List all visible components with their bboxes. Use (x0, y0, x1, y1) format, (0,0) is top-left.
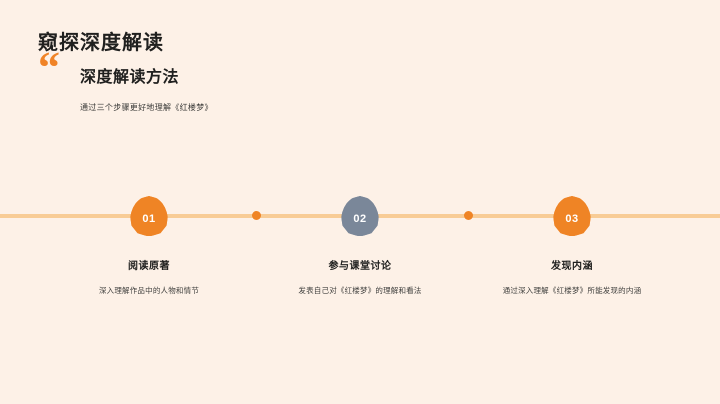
quote-marks-icon: “ (38, 62, 70, 88)
step-marker: 02 (341, 196, 379, 236)
step-description: 发表自己对《红楼梦》的理解和看法 (250, 285, 470, 297)
step-number: 02 (353, 207, 366, 225)
step-number: 03 (565, 207, 578, 225)
step-number: 01 (142, 207, 155, 225)
lead-text: 通过三个步骤更好地理解《红楼梦》 (80, 102, 213, 113)
timeline-step[interactable]: 03 发现内涵 通过深入理解《红楼梦》所能发现的内涵 (462, 196, 682, 297)
step-title: 参与课堂讨论 (250, 257, 470, 272)
section-heading-row: “ 深度解读方法 (38, 62, 179, 88)
step-marker: 01 (130, 196, 168, 236)
section-title: 深度解读方法 (80, 63, 179, 87)
slide-canvas: 窥探深度解读 “ 深度解读方法 通过三个步骤更好地理解《红楼梦》 01 阅读原著… (0, 0, 720, 404)
timeline-step[interactable]: 01 阅读原著 深入理解作品中的人物和情节 (39, 196, 259, 297)
step-title: 阅读原著 (39, 257, 259, 272)
step-marker: 03 (553, 196, 591, 236)
step-title: 发现内涵 (462, 257, 682, 272)
timeline-step[interactable]: 02 参与课堂讨论 发表自己对《红楼梦》的理解和看法 (250, 196, 470, 297)
step-description: 通过深入理解《红楼梦》所能发现的内涵 (462, 285, 682, 297)
step-description: 深入理解作品中的人物和情节 (39, 285, 259, 297)
